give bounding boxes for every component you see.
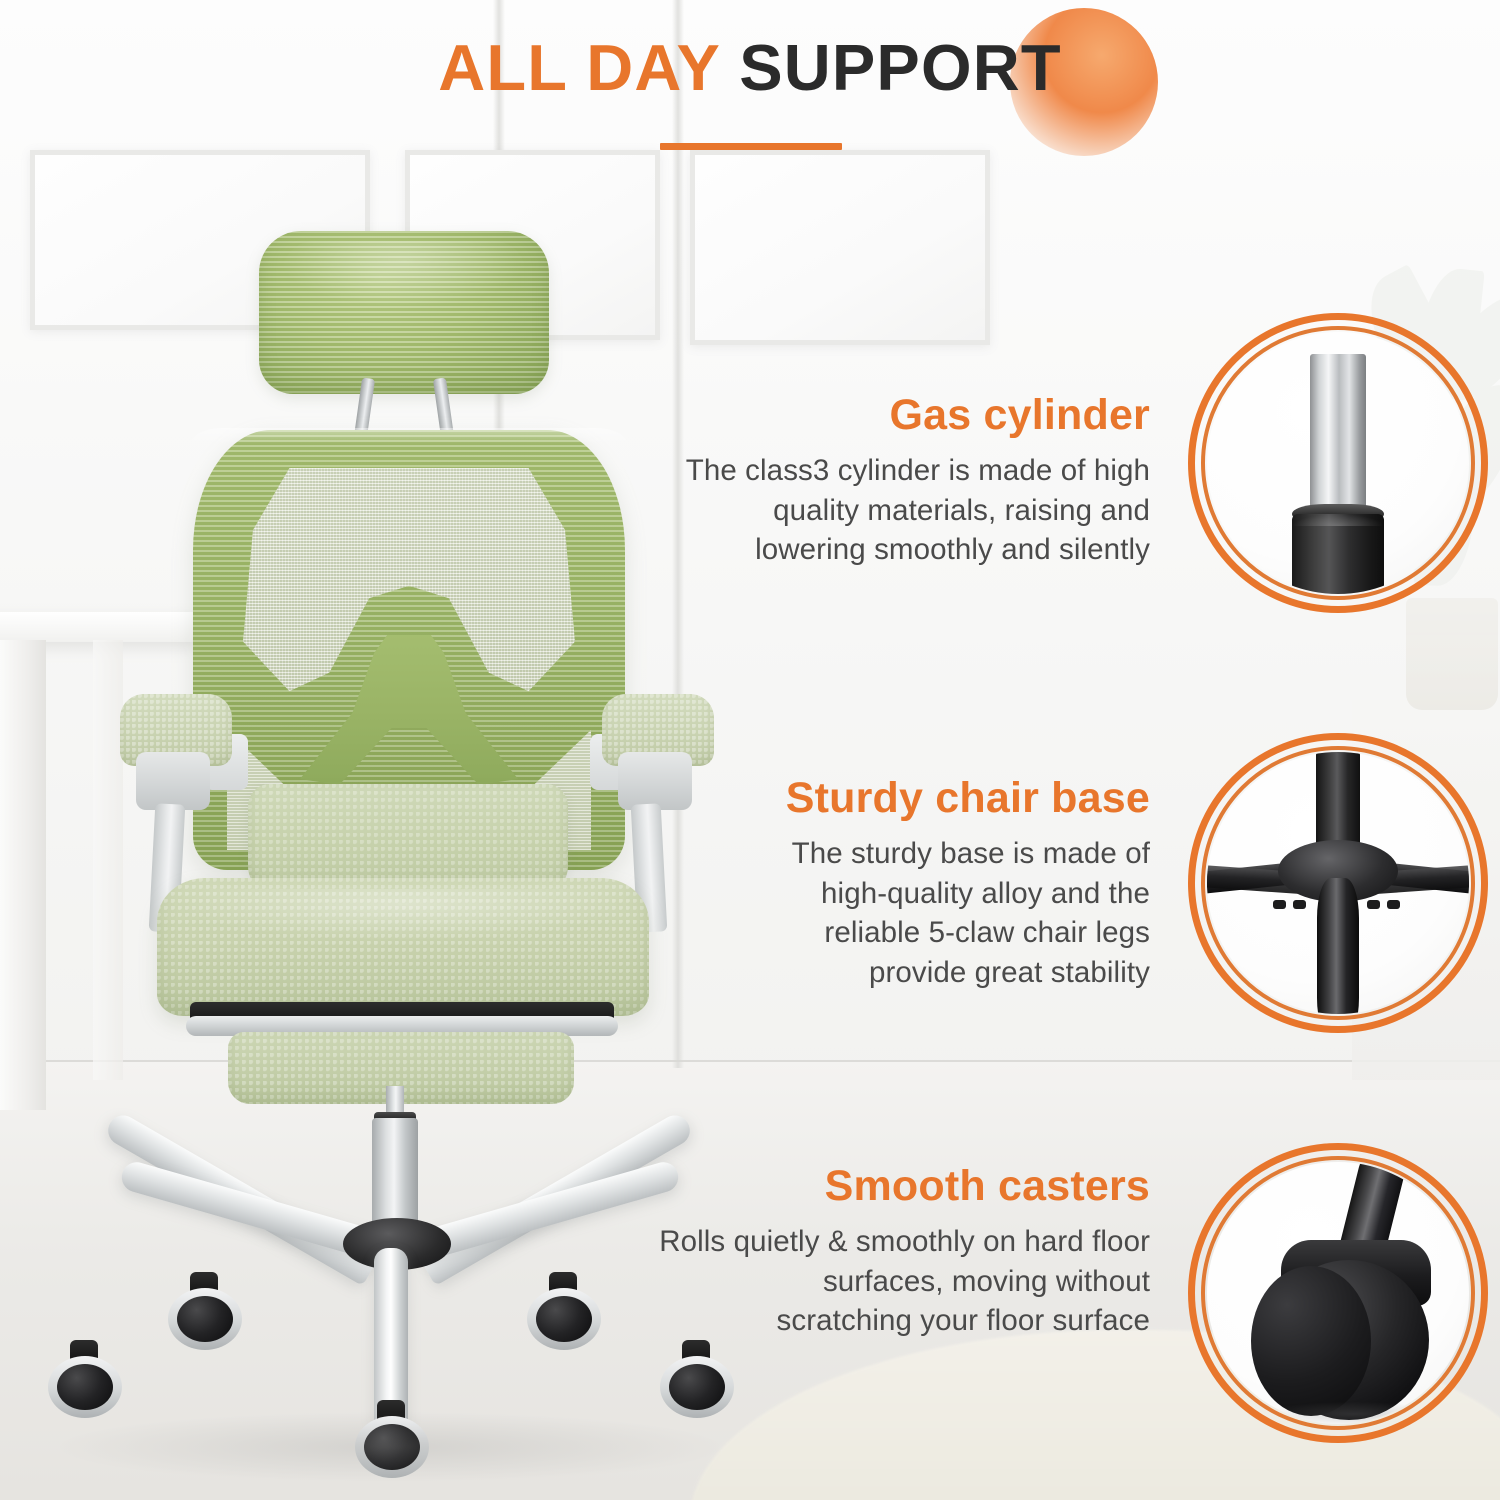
callout-outer-ring (1188, 313, 1488, 613)
backrest-mesh-panel (243, 468, 575, 778)
feature-body-line: provide great stability (640, 953, 1150, 993)
callout-sturdy-chair-base (1188, 733, 1488, 1033)
caster-tyre (669, 1364, 725, 1410)
caster-tyre (177, 1296, 233, 1342)
armrest-bracket (136, 752, 210, 810)
feature-title-sturdy-chair-base: Sturdy chair base (640, 775, 1150, 822)
feature-body-gas-cylinder: The class3 cylinder is made of high qual… (640, 451, 1150, 570)
feature-body-sturdy-chair-base: The sturdy base is made of high-quality … (640, 834, 1150, 992)
feature-body-line: The class3 cylinder is made of high (640, 451, 1150, 491)
feature-body-line: high-quality alloy and the (640, 874, 1150, 914)
feature-title-gas-cylinder: Gas cylinder (640, 392, 1150, 439)
feature-block-gas-cylinder: Gas cylinder The class3 cylinder is made… (640, 392, 1150, 570)
callout-outer-ring (1188, 1143, 1488, 1443)
feature-title-smooth-casters: Smooth casters (620, 1163, 1150, 1210)
caster-wheel (660, 1340, 734, 1418)
infographic-canvas: ALL DAY SUPPORT (0, 0, 1500, 1500)
feature-body-smooth-casters: Rolls quietly & smoothly on hard floor s… (620, 1222, 1150, 1341)
feature-block-smooth-casters: Smooth casters Rolls quietly & smoothly … (620, 1163, 1150, 1341)
seat-cushion (157, 878, 649, 1016)
callout-gas-cylinder (1188, 313, 1488, 613)
caster-wheel (168, 1272, 242, 1350)
feature-block-sturdy-chair-base: Sturdy chair base The sturdy base is mad… (640, 775, 1150, 992)
feature-body-line: The sturdy base is made of (640, 834, 1150, 874)
feature-body-line: Rolls quietly & smoothly on hard floor (620, 1222, 1150, 1262)
chair-floor-shadow (60, 1412, 720, 1482)
callout-outer-ring (1188, 733, 1488, 1033)
caster-tyre (57, 1364, 113, 1410)
feature-body-line: scratching your floor surface (620, 1301, 1150, 1341)
chair-headrest (259, 231, 549, 394)
caster-tyre (536, 1296, 592, 1342)
caster-wheel (48, 1340, 122, 1418)
feature-body-line: quality materials, raising and (640, 491, 1150, 531)
callout-smooth-casters (1188, 1143, 1488, 1443)
caster-wheel (527, 1272, 601, 1350)
feature-body-line: lowering smoothly and silently (640, 530, 1150, 570)
gas-cylinder-body (372, 1118, 418, 1230)
feature-body-line: surfaces, moving without (620, 1262, 1150, 1302)
feature-body-line: reliable 5-claw chair legs (640, 913, 1150, 953)
